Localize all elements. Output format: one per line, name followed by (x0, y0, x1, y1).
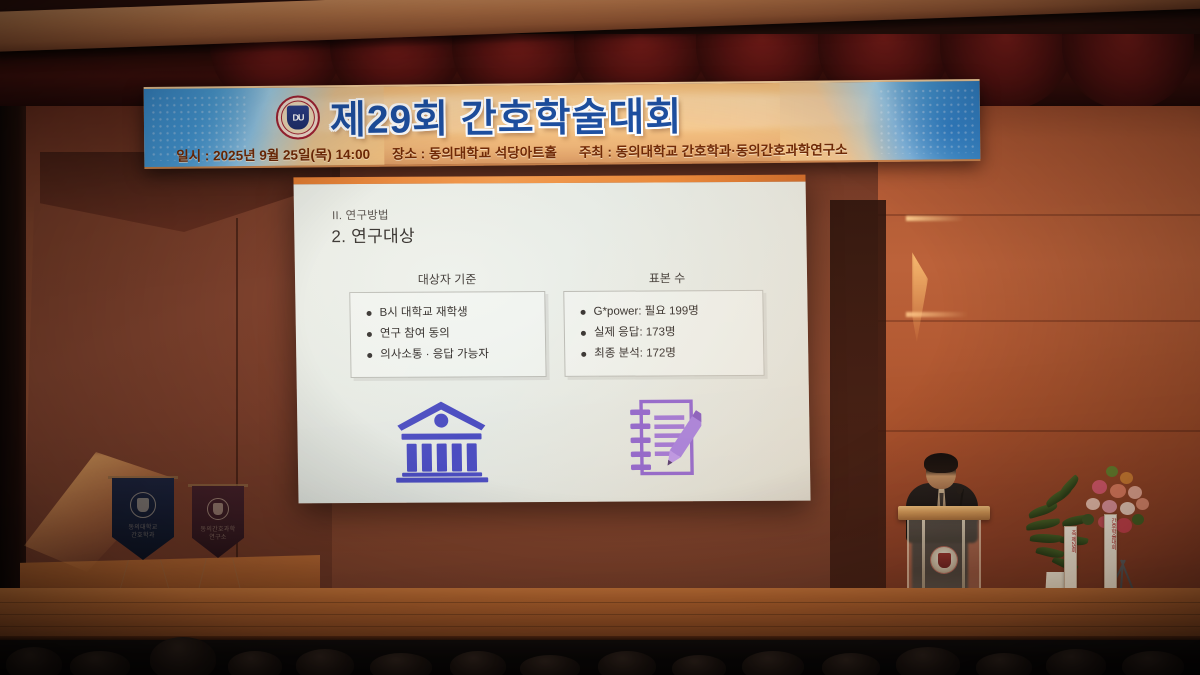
column-header-sample: 표본 수 (587, 269, 747, 287)
notepad-pen-icon (619, 395, 702, 481)
sample-size-box: G*power: 필요 199명 실제 응답: 173명 최종 분석: 172명 (563, 290, 764, 377)
audience-silhouettes (0, 636, 1200, 675)
list-item: 의사소통 · 응답 가능자 (367, 344, 545, 366)
podium-top (898, 506, 990, 520)
list-item: 연구 참여 동의 (367, 323, 545, 345)
banner-organizer: 주최 : 동의대학교 간호학과·동의간호과학연구소 (579, 138, 848, 161)
pennant-emblem-icon (207, 498, 229, 520)
podium-crest-icon (930, 546, 958, 574)
congratulation-ribbon: 간호학술대회 (1104, 514, 1117, 598)
pennant-label-navy: 동의대학교간호학과 (112, 524, 174, 540)
pennant-emblem-icon (130, 492, 156, 518)
list-item: G*power: 필요 199명 (580, 301, 762, 323)
congratulation-ribbon: 축 제29회 (1064, 526, 1077, 596)
ribbon-text: 축 제29회 (1065, 527, 1076, 553)
university-building-icon (393, 396, 490, 482)
stage-wing-shadow (830, 200, 886, 600)
slide-surface: II. 연구방법 2. 연구대상 대상자 기준 표본 수 B시 대학교 재학생 … (294, 182, 811, 504)
ribbon-text: 간호학술대회 (1105, 515, 1116, 550)
column-header-criteria: 대상자 기준 (367, 270, 527, 288)
banner-date: 일시 : 2025년 9월 25일(목) 14:00 (176, 143, 370, 165)
banner-location: 장소 : 동의대학교 석당아트홀 (392, 141, 557, 163)
criteria-box: B시 대학교 재학생 연구 참여 동의 의사소통 · 응답 가능자 (349, 291, 546, 378)
banner-title: 제29회 간호학술대회 (330, 87, 930, 141)
slide-kicker: II. 연구방법 (332, 207, 389, 223)
pennant-label-maroon: 동의간호과학연구소 (192, 526, 244, 542)
conference-stage-photo: DU 제29회 간호학술대회 일시 : 2025년 9월 25일(목) 14:0… (0, 0, 1200, 675)
list-item: 최종 분석: 172명 (581, 343, 763, 365)
slide-title: 2. 연구대상 (331, 222, 415, 247)
university-seal-icon: DU (276, 95, 320, 139)
bouquet (1076, 464, 1162, 540)
list-item: 실제 응답: 173명 (581, 322, 763, 344)
projection-screen: II. 연구방법 2. 연구대상 대상자 기준 표본 수 B시 대학교 재학생 … (293, 175, 810, 504)
list-item: B시 대학교 재학생 (366, 302, 544, 324)
seal-monogram: DU (287, 105, 309, 129)
event-banner: DU 제29회 간호학술대회 일시 : 2025년 9월 25일(목) 14:0… (144, 79, 981, 169)
